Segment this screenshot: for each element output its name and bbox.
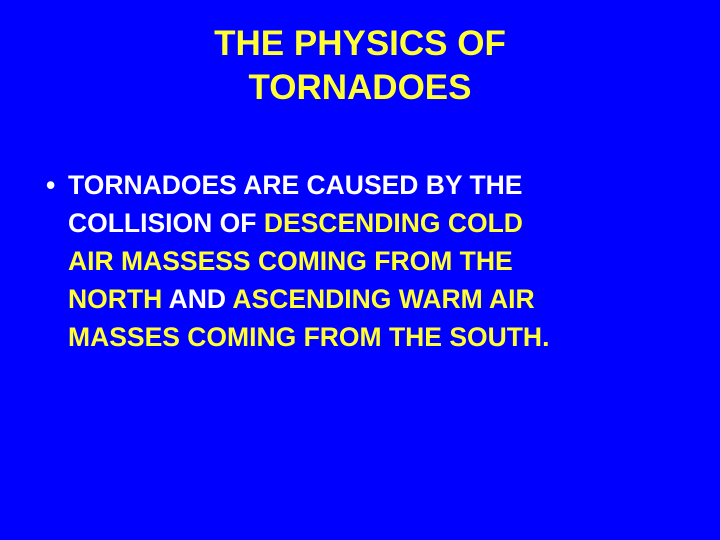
text-run-white: TORNADOES ARE CAUSED BY THE	[68, 170, 523, 200]
text-run-yellow: DESCENDING COLD	[264, 208, 523, 238]
title-line-2: TORNADOES	[60, 66, 660, 110]
text-run-yellow: NORTH	[68, 284, 169, 314]
bullet-point-icon: •	[46, 166, 66, 204]
text-run-yellow: AIR MASSESS COMING FROM THE	[68, 246, 513, 276]
presentation-slide: THE PHYSICS OF TORNADOES • TORNADOES ARE…	[0, 0, 720, 540]
title-line-1: THE PHYSICS OF	[60, 22, 660, 66]
slide-title: THE PHYSICS OF TORNADOES	[60, 22, 660, 110]
body-text-line: MASSES COMING FROM THE SOUTH.	[68, 318, 688, 356]
bullet-item-text: TORNADOES ARE CAUSED BY THECOLLISION OF …	[68, 166, 688, 356]
text-run-white: AND	[169, 284, 233, 314]
text-run-yellow: ASCENDING WARM AIR	[232, 284, 534, 314]
body-text-line: NORTH AND ASCENDING WARM AIR	[68, 280, 688, 318]
text-run-white: COLLISION OF	[68, 208, 264, 238]
body-text-line: TORNADOES ARE CAUSED BY THE	[68, 166, 688, 204]
bullet-list-item: • TORNADOES ARE CAUSED BY THECOLLISION O…	[40, 166, 688, 356]
slide-body: • TORNADOES ARE CAUSED BY THECOLLISION O…	[40, 166, 688, 356]
body-text-line: AIR MASSESS COMING FROM THE	[68, 242, 688, 280]
body-text-line: COLLISION OF DESCENDING COLD	[68, 204, 688, 242]
text-run-yellow: MASSES COMING FROM THE SOUTH.	[68, 322, 549, 352]
